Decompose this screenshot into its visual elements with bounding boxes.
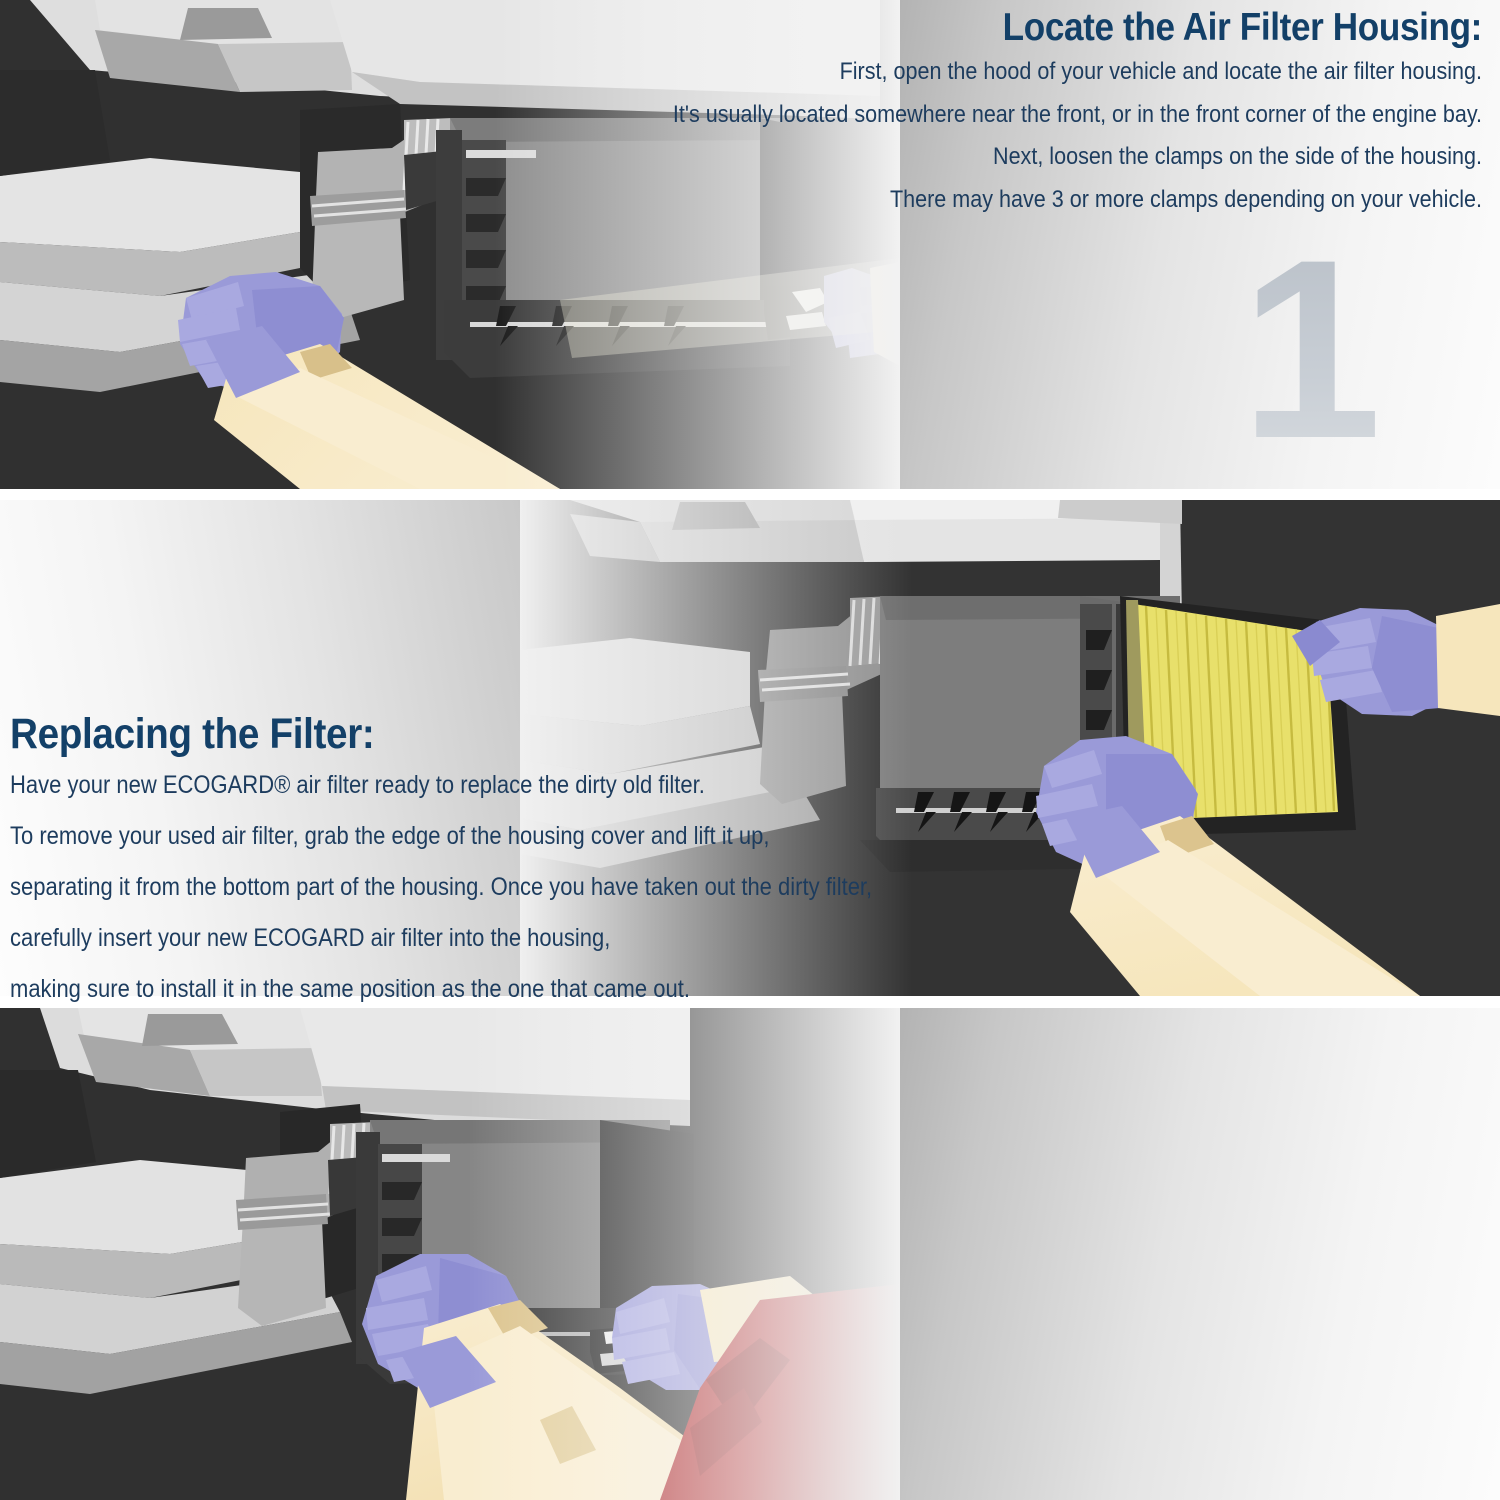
step-2-text-block: Replacing the Filter: Have your new ECOG…	[10, 710, 1020, 1028]
illustration-step-3	[0, 1008, 900, 1500]
step-1-line-3: Next, loosen the clamps on the side of t…	[602, 145, 1482, 170]
step-2-line-1: Have your new ECOGARD® air filter ready …	[10, 773, 899, 798]
step-1-heading: Locate the Air Filter Housing:	[582, 6, 1482, 50]
infographic-sheet: 1 Locate the Air Filter Housing: First, …	[0, 0, 1500, 1500]
step-2-line-4: carefully insert your new ECOGARD air fi…	[10, 926, 899, 951]
step-1-line-4: There may have 3 or more clamps dependin…	[602, 188, 1482, 213]
step-panel-3: 3 Secure the Air Filter Housing Cover: T…	[0, 1008, 1500, 1500]
step-2-line-5: making sure to install it in the same po…	[10, 977, 899, 1002]
step-number-1: 1	[1240, 222, 1382, 477]
step-panel-1: 1 Locate the Air Filter Housing: First, …	[0, 0, 1500, 489]
step-2-heading: Replacing the Filter:	[10, 710, 919, 759]
step-2-line-3: separating it from the bottom part of th…	[10, 875, 899, 900]
step-1-text-block: Locate the Air Filter Housing: First, op…	[482, 6, 1482, 230]
step-1-line-2: It's usually located somewhere near the …	[602, 103, 1482, 128]
step-2-line-2: To remove your used air filter, grab the…	[10, 824, 899, 849]
step-1-line-1: First, open the hood of your vehicle and…	[602, 60, 1482, 85]
